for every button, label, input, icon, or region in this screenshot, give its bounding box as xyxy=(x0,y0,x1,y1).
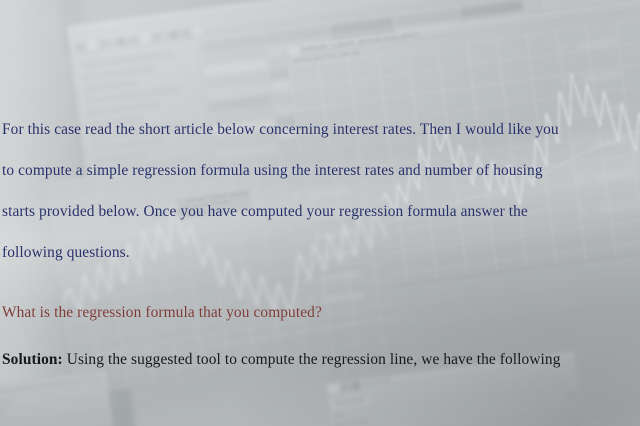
document-text-overlay: For this case read the short article bel… xyxy=(0,0,640,426)
solution-text: Using the suggested tool to compute the … xyxy=(67,351,561,368)
paragraph-line-3: starts provided below. Once you have com… xyxy=(2,204,528,219)
screenshot-root: EUR/USD · 1,36279 · 00:10:00 14 piu (EES… xyxy=(0,0,640,426)
paragraph-line-2: to compute a simple regression formula u… xyxy=(2,163,543,178)
paragraph-line-1: For this case read the short article bel… xyxy=(2,122,559,137)
question-line: What is the regression formula that you … xyxy=(2,305,322,320)
paragraph-line-4: following questions. xyxy=(2,245,130,260)
solution-line: Solution: Using the suggested tool to co… xyxy=(2,352,561,367)
solution-label: Solution: xyxy=(2,351,63,368)
